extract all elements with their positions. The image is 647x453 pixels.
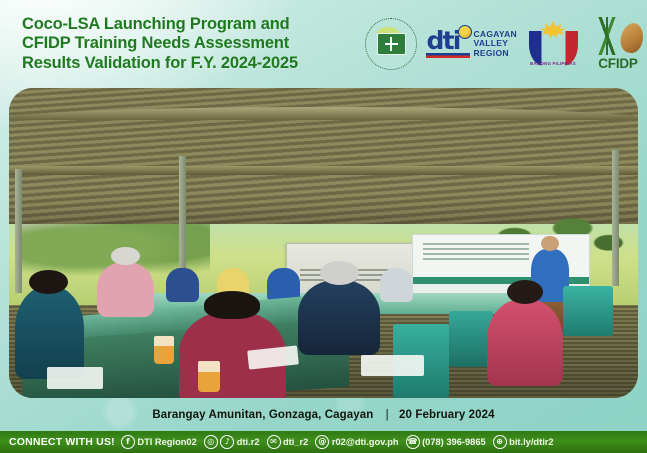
email-icon[interactable]: @ [315, 435, 329, 449]
connect-with-us-label: CONNECT WITH US! [9, 436, 115, 448]
header: Coco-LSA Launching Program and CFIDP Tra… [0, 0, 647, 88]
caption-text: Barangay Amunitan, Gonzaga, Cagayan | 20… [152, 409, 494, 421]
coconut-fronds-icon [593, 17, 621, 55]
phone-icon[interactable]: ☎ [406, 435, 420, 449]
dti-wordmark: dti [426, 30, 470, 58]
cfidp-art [589, 17, 647, 57]
handout-papers [361, 355, 424, 377]
caption-separator: | [386, 409, 389, 421]
cfidp-label-text: CFIDP [589, 57, 647, 71]
footer-contact-bar: CONNECT WITH US! f DTI Region02 ◎ ♪ dti.… [0, 431, 647, 453]
attendee [487, 299, 562, 386]
caption-location: Barangay Amunitan, Gonzaga, Cagayan [152, 409, 373, 421]
contact-website[interactable]: ⊕ bit.ly/dtir2 [493, 435, 554, 449]
panel-member [380, 268, 413, 302]
social-twitter[interactable]: ✉ dti_r2 [267, 435, 309, 449]
panel-member [166, 268, 199, 302]
pavilion-post-left [15, 169, 22, 293]
email-address[interactable]: r02@dti.gov.ph [332, 437, 399, 447]
website-url[interactable]: bit.ly/dtir2 [509, 437, 553, 447]
dti-logo: dti CAGAYAN VALLEY REGION [426, 30, 517, 59]
event-announcement-card: Coco-LSA Launching Program and CFIDP Tra… [0, 0, 647, 453]
dti-region-line-3: REGION [473, 49, 517, 59]
coconut-icon [618, 21, 646, 55]
facebook-icon[interactable]: f [121, 435, 135, 449]
snack-cup [154, 336, 174, 364]
event-photo [9, 88, 638, 398]
attendee [298, 280, 380, 354]
photo-scene [9, 88, 638, 398]
bagong-pilipinas-logo: BAGONG PILIPINAS [526, 19, 580, 69]
title-line-3: Results Validation for F.Y. 2024-2025 [22, 54, 357, 74]
photo-caption: Barangay Amunitan, Gonzaga, Cagayan | 20… [0, 398, 647, 431]
contact-email[interactable]: @ r02@dti.gov.ph [315, 435, 398, 449]
title-line-1: Coco-LSA Launching Program and [22, 15, 357, 35]
twitter-icon[interactable]: ✉ [267, 435, 281, 449]
social-facebook[interactable]: f DTI Region02 [121, 435, 197, 449]
caption-date: 20 February 2024 [399, 409, 495, 421]
phone-number[interactable]: (078) 396-9865 [422, 437, 486, 447]
social-instagram-tiktok[interactable]: ◎ ♪ dti.r2 [204, 435, 260, 449]
instagram-tiktok-handle[interactable]: dti.r2 [237, 437, 260, 447]
roof-ridge-beam [9, 166, 638, 175]
attendee [15, 286, 84, 379]
twitter-handle[interactable]: dti_r2 [283, 437, 308, 447]
bp-label-text: BAGONG PILIPINAS [526, 61, 580, 66]
attendee [97, 262, 154, 318]
pavilion-post-right [612, 150, 619, 286]
page-title: Coco-LSA Launching Program and CFIDP Tra… [22, 15, 357, 74]
facebook-handle[interactable]: DTI Region02 [137, 437, 196, 447]
handout-papers [47, 367, 104, 389]
pca-seal-logo [365, 18, 417, 70]
cfidp-logo: CFIDP [589, 17, 647, 71]
logo-strip: dti CAGAYAN VALLEY REGION BAGONG PILIPIN… [365, 17, 647, 71]
dti-region-text: CAGAYAN VALLEY REGION [473, 30, 517, 59]
monobloc-chair [563, 286, 613, 336]
pca-seal-cross-icon [377, 33, 406, 55]
snack-cup [198, 361, 221, 392]
instagram-icon[interactable]: ◎ [204, 435, 218, 449]
contact-phone[interactable]: ☎ (078) 396-9865 [406, 435, 486, 449]
tiktok-icon[interactable]: ♪ [220, 435, 234, 449]
title-line-2: CFIDP Training Needs Assessment [22, 34, 357, 54]
website-icon[interactable]: ⊕ [493, 435, 507, 449]
